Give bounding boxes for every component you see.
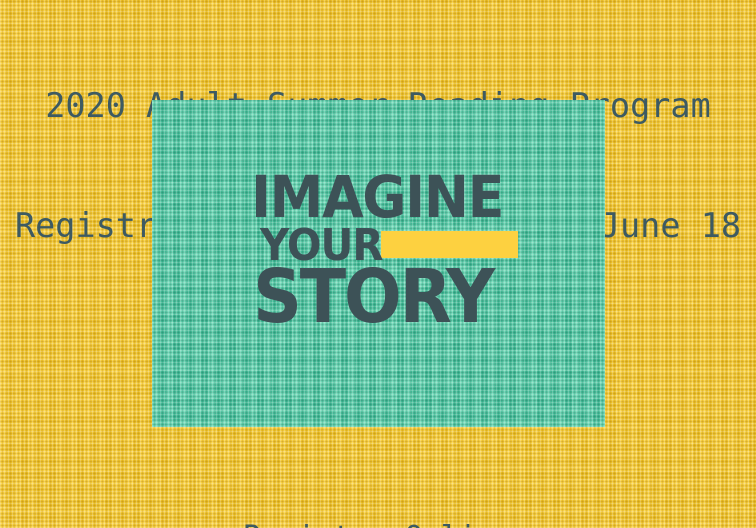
teal-logo-panel: IMAGINE YOUR STORY xyxy=(152,100,605,427)
footer-line-register-online: Register Online xyxy=(0,519,756,528)
logo-word-story: STORY xyxy=(253,260,493,334)
poster-canvas: 2020 Adult Summer Reading Program Regist… xyxy=(0,0,756,528)
footer-block: Register Online or By Phone 860-665-8700 xyxy=(0,443,756,528)
logo-word-imagine: IMAGINE xyxy=(251,168,503,226)
imagine-your-story-logo: IMAGINE YOUR STORY xyxy=(152,100,605,427)
